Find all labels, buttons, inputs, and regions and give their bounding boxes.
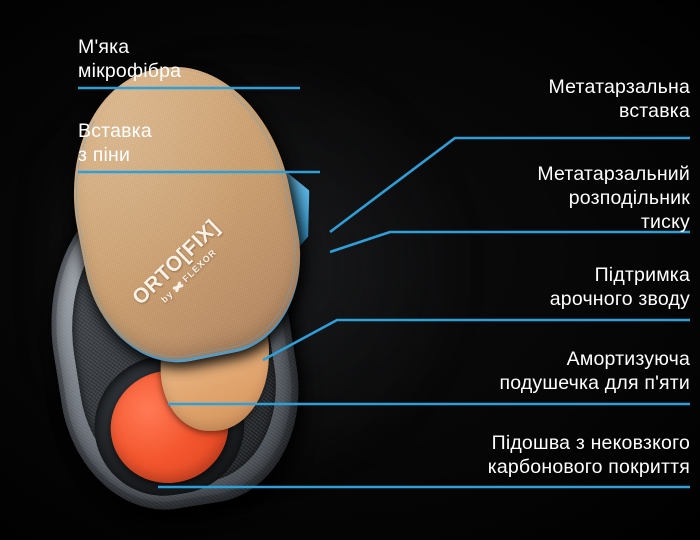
callout-arch-support: Підтримка арочного зводу xyxy=(550,264,690,312)
microfiber-top-insole: ORTO[FIX] by FLEXOR xyxy=(50,33,409,424)
callout-metatarsal-pressure-distributor: Метатарзальний розподільник тиску xyxy=(537,163,690,234)
insole-infographic: ORTO[FIX] by FLEXOR xyxy=(0,0,700,540)
callout-non-slip-carbon-sole: Підошва з нековзкого карбонового покритт… xyxy=(488,432,690,480)
callout-foam-insert: Вставка з піни xyxy=(78,120,152,168)
callout-heel-cushion: Амортизуюча подушечка для п'яти xyxy=(499,348,690,396)
callout-soft-microfiber: М'яка мікрофібра xyxy=(78,36,181,84)
callout-metatarsal-insert: Метатарзальна вставка xyxy=(548,76,690,124)
